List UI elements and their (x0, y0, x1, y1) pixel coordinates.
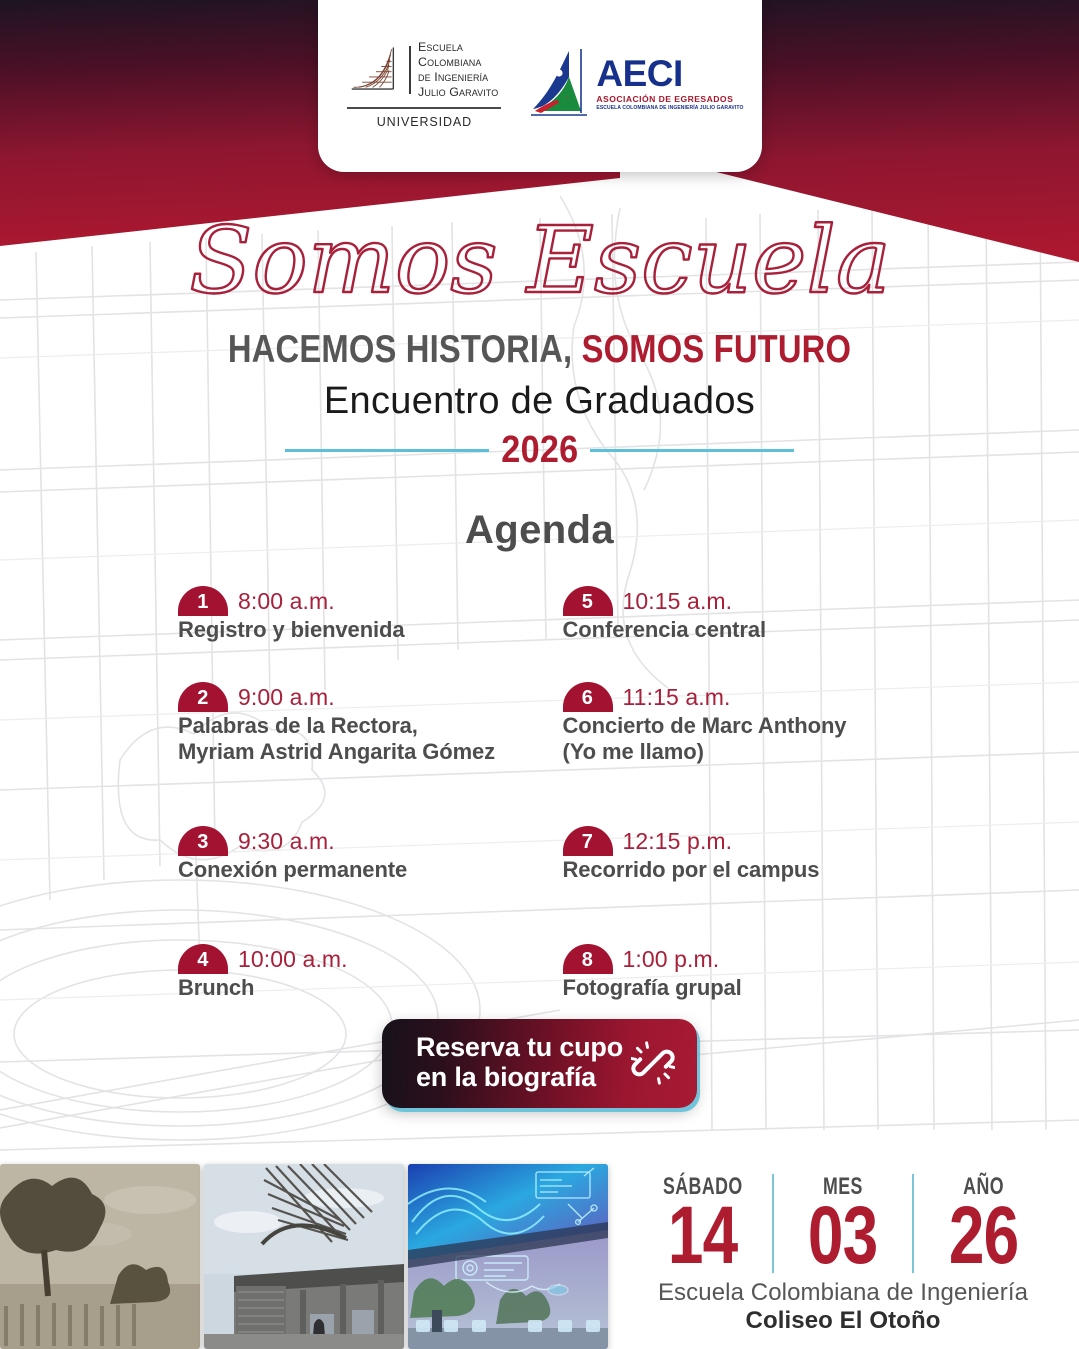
university-line-4: Julio Garavito (418, 85, 498, 100)
agenda-item-time: 10:00 a.m. (238, 946, 348, 974)
escuela-curve-mesh-icon (350, 44, 402, 96)
logo-divider (409, 46, 411, 94)
event-poster: Escuela Colombiana de Ingeniería Julio G… (0, 0, 1079, 1349)
agenda-item: 5 10:15 a.m. Conferencia central (563, 586, 910, 642)
cta-text: Reserva tu cupo en la biografía (416, 1033, 623, 1092)
agenda-item: 4 10:00 a.m. Brunch (178, 944, 525, 1000)
agenda-item-number: 2 (178, 682, 228, 712)
agenda-item-desc: Conexión permanente (178, 857, 525, 882)
agenda-item-number: 6 (563, 682, 613, 712)
agenda-grid: 1 8:00 a.m. Registro y bienvenida 2 9:00… (0, 586, 1079, 1040)
aeci-subtitle-2: ESCUELA COLOMBIANA DE INGENIERÍA JULIO G… (596, 105, 743, 111)
university-line-3: de Ingeniería (418, 70, 498, 85)
agenda-item: 2 9:00 a.m. Palabras de la Rectora, Myri… (178, 682, 525, 764)
date-cell-year: AÑO 26 (912, 1174, 1053, 1273)
agenda-item-desc: Conferencia central (563, 617, 910, 642)
agenda-column-left: 1 8:00 a.m. Registro y bienvenida 2 9:00… (178, 586, 525, 1040)
agenda-column-right: 5 10:15 a.m. Conferencia central 6 11:15… (563, 586, 910, 1040)
university-name-block: Escuela Colombiana de Ingeniería Julio G… (418, 40, 498, 101)
agenda-item-number: 7 (563, 826, 613, 856)
event-subtitle: Encuentro de Graduados (0, 380, 1079, 423)
agenda-item-desc: Recorrido por el campus (563, 857, 910, 882)
aeci-figure-icon (529, 47, 591, 121)
photo-past-sepia-trees (0, 1164, 200, 1349)
agenda-item: 6 11:15 a.m. Concierto de Marc Anthony (… (563, 682, 910, 764)
agenda-item: 1 8:00 a.m. Registro y bienvenida (178, 586, 525, 642)
date-value: 26 (949, 1198, 1019, 1273)
agenda-item-time: 10:15 a.m. (623, 588, 733, 616)
agenda-item-desc: Registro y bienvenida (178, 617, 525, 642)
university-line-2: Colombiana (418, 55, 498, 70)
agenda-item-time: 9:00 a.m. (238, 684, 335, 712)
broken-link-sparkle-icon (631, 1041, 675, 1085)
alumni-association-logo: AECI ASOCIACIÓN DE EGRESADOS ESCUELA COL… (529, 47, 743, 121)
agenda-item-time: 12:15 p.m. (623, 828, 733, 856)
reserve-spot-button[interactable]: Reserva tu cupo en la biografía (382, 1019, 697, 1108)
year-row: 2026 (0, 429, 1079, 472)
headline-block: Somos Escuela HACEMOS HISTORIA, SOMOS FU… (0, 196, 1079, 553)
agenda-item-number: 3 (178, 826, 228, 856)
logo-card: Escuela Colombiana de Ingeniería Julio G… (318, 0, 762, 172)
aeci-acronym: AECI (596, 57, 743, 91)
cta-wrap: Reserva tu cupo en la biografía (0, 1019, 1079, 1108)
photo-future-blue-tech (408, 1164, 608, 1349)
event-year: 2026 (494, 429, 586, 472)
agenda-item-time: 8:00 a.m. (238, 588, 335, 616)
year-rule-left (285, 449, 489, 453)
agenda-item-desc-2: (Yo me llamo) (563, 739, 910, 764)
agenda-item: 8 1:00 p.m. Fotografía grupal (563, 944, 910, 1000)
script-title-wrap: Somos Escuela (0, 196, 1079, 334)
date-cells: SÁBADO 14 MES 03 AÑO 26 (633, 1174, 1053, 1273)
university-logo: Escuela Colombiana de Ingeniería Julio G… (336, 40, 514, 129)
venue-place: Coliseo El Otoño (633, 1307, 1053, 1335)
agenda-item-number: 1 (178, 586, 228, 616)
agenda-item-number: 8 (563, 944, 613, 974)
year-rule-right (590, 449, 794, 453)
agenda-item: 3 9:30 a.m. Conexión permanente (178, 826, 525, 882)
tagline-part-future: SOMOS FUTURO (582, 328, 852, 371)
agenda-item-desc: Concierto de Marc Anthony (563, 713, 910, 738)
agenda-item-desc: Brunch (178, 975, 525, 1000)
agenda-item: 7 12:15 p.m. Recorrido por el campus (563, 826, 910, 882)
event-date-footer: SÁBADO 14 MES 03 AÑO 26 Escuela Colombia… (633, 1174, 1053, 1335)
logo-rule (347, 107, 501, 109)
university-footer-label: UNIVERSIDAD (377, 115, 472, 129)
agenda-item-time: 11:15 a.m. (623, 684, 731, 712)
agenda-heading: Agenda (0, 508, 1079, 553)
script-title-svg: Somos Escuela (280, 196, 800, 334)
agenda-item-desc-2: Myriam Astrid Angarita Gómez (178, 739, 525, 764)
agenda-item-number: 4 (178, 944, 228, 974)
date-cell-day: SÁBADO 14 (633, 1174, 772, 1273)
date-value: 03 (808, 1198, 878, 1273)
agenda-item-time: 9:30 a.m. (238, 828, 335, 856)
venue-institution: Escuela Colombiana de Ingeniería (633, 1279, 1053, 1307)
agenda-item-desc: Palabras de la Rectora, (178, 713, 525, 738)
tagline-part-history: HACEMOS HISTORIA, (228, 328, 572, 371)
agenda-item-desc: Fotografía grupal (563, 975, 910, 1000)
date-value: 14 (668, 1198, 738, 1273)
date-cell-month: MES 03 (772, 1174, 913, 1273)
script-title: Somos Escuela (189, 207, 890, 314)
university-line-1: Escuela (418, 40, 498, 55)
photo-present-campus-entrance (204, 1164, 404, 1349)
photo-strip (0, 1164, 608, 1349)
cta-line-1: Reserva tu cupo (416, 1032, 623, 1062)
tagline: HACEMOS HISTORIA, SOMOS FUTURO (86, 328, 992, 372)
agenda-item-number: 5 (563, 586, 613, 616)
cta-line-2: en la biografía (416, 1063, 623, 1093)
agenda-item-time: 1:00 p.m. (623, 946, 720, 974)
aeci-subtitle-1: ASOCIACIÓN DE EGRESADOS (596, 94, 743, 104)
